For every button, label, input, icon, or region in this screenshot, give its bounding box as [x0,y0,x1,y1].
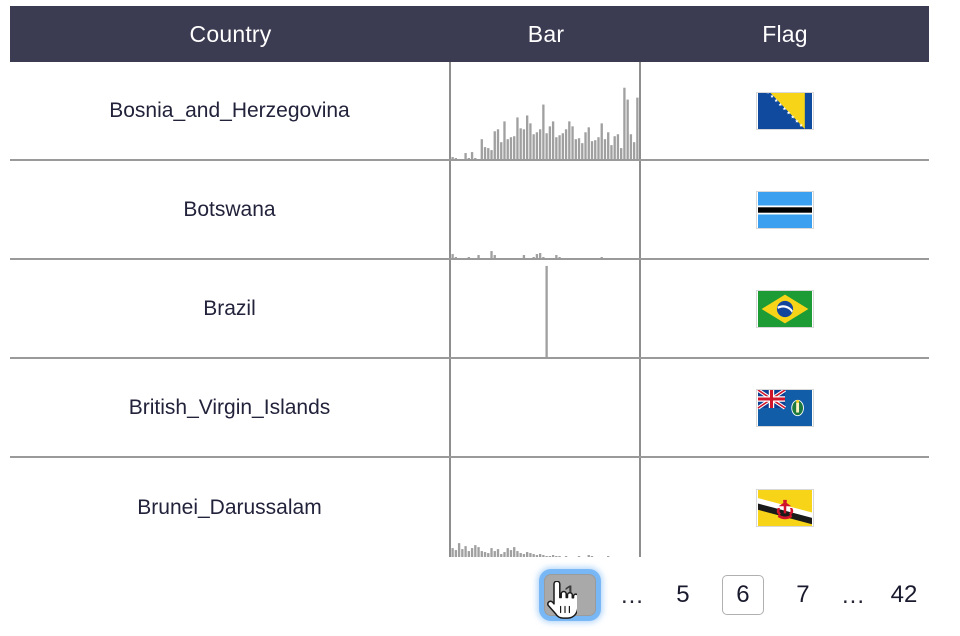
flag-botswana [756,191,814,229]
country-name: Brazil [203,297,256,321]
cell-country: Brunei_Darussalam [10,458,451,557]
sparkline-bar-chart [451,458,639,557]
pagination-page-6[interactable]: 6 [722,575,764,615]
table-body: Bosnia_and_HerzegovinaBotswanaBrazilBrit… [10,62,929,557]
sparkline-bar-chart [451,62,639,159]
country-name: Botswana [183,198,275,222]
table-row: Botswana [10,161,929,260]
flag-british-virgin-islands [756,389,814,427]
column-header-country[interactable]: Country [10,21,451,48]
country-name: Brunei_Darussalam [137,496,321,520]
cell-flag [641,62,929,159]
cell-bar [451,62,641,159]
data-table: Country Bar Flag Bosnia_and_HerzegovinaB… [10,6,929,560]
cell-country: British_Virgin_Islands [10,359,451,456]
sparkline-bar-chart [451,359,639,456]
flag-bosnia-and-herzegovina [756,92,814,130]
column-header-bar[interactable]: Bar [451,21,641,48]
pagination-page-5[interactable]: 5 [666,576,700,614]
table-row: Brunei_Darussalam [10,458,929,557]
table-row: Bosnia_and_Herzegovina [10,62,929,161]
table-header-row: Country Bar Flag [10,6,929,62]
pagination-ellipsis: ... [621,576,644,614]
pagination-page-7[interactable]: 7 [786,576,820,614]
pagination-page-1[interactable]: 1 [544,574,596,616]
flag-brunei-darussalam [756,489,814,527]
cell-country: Brazil [10,260,451,357]
table-row: Brazil [10,260,929,359]
country-name: Bosnia_and_Herzegovina [109,99,350,123]
cell-flag [641,359,929,456]
page-root: Country Bar Flag Bosnia_and_HerzegovinaB… [0,0,960,636]
cell-country: Botswana [10,161,451,258]
cell-flag [641,260,929,357]
cell-bar [451,260,641,357]
cell-bar [451,458,641,557]
table-row: British_Virgin_Islands [10,359,929,458]
pagination-page-42[interactable]: 42 [887,576,921,614]
column-header-flag[interactable]: Flag [641,21,929,48]
country-name: British_Virgin_Islands [129,396,331,420]
cell-flag [641,161,929,258]
flag-brazil [756,290,814,328]
sparkline-bar-chart [451,161,639,258]
cell-flag [641,458,929,557]
pagination-ellipsis: ... [842,576,865,614]
sparkline-bar-chart [451,260,639,357]
cell-bar [451,161,641,258]
pagination: 1...567...42 [0,566,960,624]
cell-country: Bosnia_and_Herzegovina [10,62,451,159]
cell-bar [451,359,641,456]
